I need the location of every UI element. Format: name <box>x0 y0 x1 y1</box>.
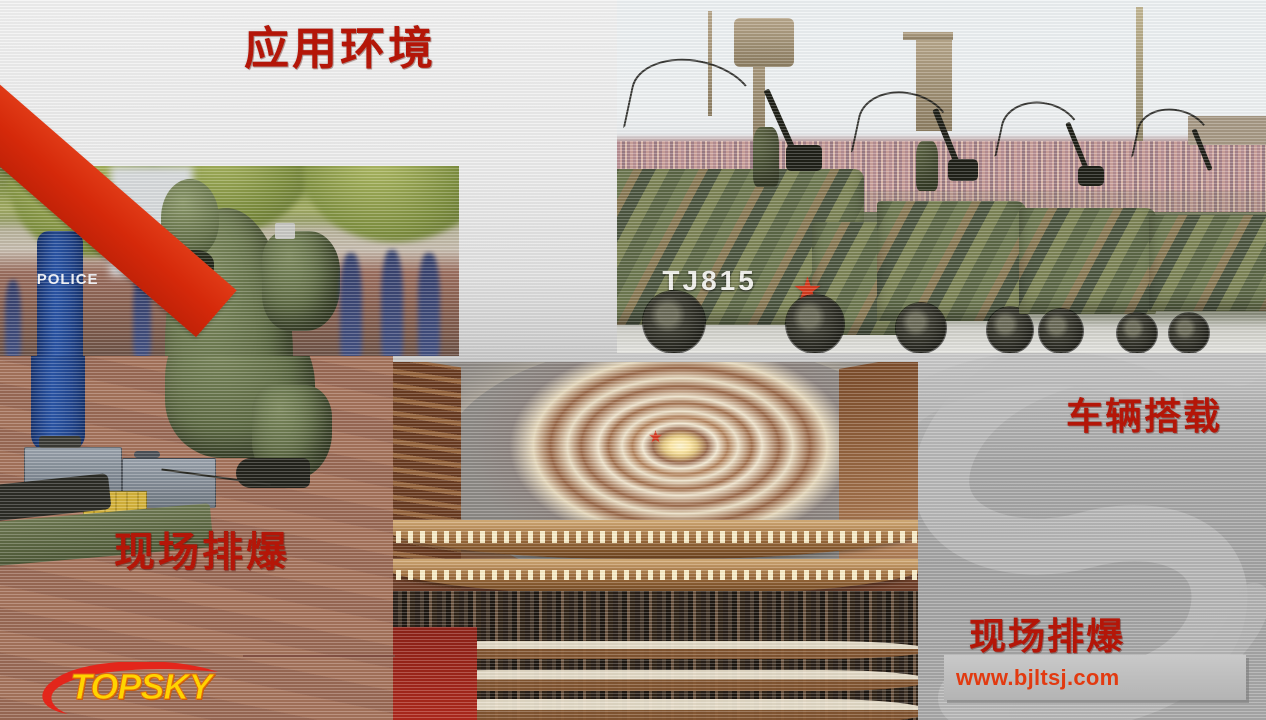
background-officer-2 <box>381 250 403 356</box>
background-officer-5 <box>5 280 21 356</box>
ribbon-label: 排爆 <box>0 31 5 139</box>
gun-mount-2 <box>948 159 978 181</box>
balcony-light-strip-lower <box>393 570 918 581</box>
background-officer-3 <box>418 253 440 356</box>
eod-boot <box>236 458 310 488</box>
vehicle-wheel-5 <box>1039 309 1083 353</box>
gun-mount-3 <box>1078 166 1104 186</box>
photo-military-parade: TJ815 ★ <box>617 0 1266 353</box>
vehicle-wheel-3 <box>896 303 946 353</box>
lamp-cluster <box>734 18 794 67</box>
gunner-soldier-2 <box>916 141 938 191</box>
website-url-text: www.bjltsj.com <box>956 665 1120 691</box>
armored-vehicle-4 <box>1149 215 1266 310</box>
armored-vehicle-3 <box>1019 208 1155 314</box>
police-ballistic-shield: POLICE <box>37 231 83 356</box>
vehicle-wheel-6 <box>1117 313 1157 353</box>
case-handle <box>134 451 160 458</box>
ceiling-red-star-icon: ★ <box>648 429 663 446</box>
hall-red-carpet <box>393 627 477 720</box>
vehicle-wheel-2 <box>786 295 844 353</box>
slide-canvas: TJ815 ★ POLICE <box>0 0 1266 720</box>
vehicle-wheel-7 <box>1169 313 1209 353</box>
vehicle-wheel-1 <box>643 291 705 353</box>
eod-suit-shoulder <box>262 231 340 331</box>
gun-mount-1 <box>786 145 822 171</box>
armored-vehicle-2 <box>877 201 1026 321</box>
website-url-plaque[interactable]: www.bjltsj.com <box>944 655 1246 700</box>
page-title: 应用环境 <box>244 12 436 77</box>
label-eod-scene-2: 现场排爆 <box>969 606 1125 660</box>
topsky-logo[interactable]: TOPSKY <box>22 662 242 714</box>
label-eod-scene: 现场排爆 <box>114 518 290 578</box>
shoulder-patch <box>275 223 295 239</box>
hall-left-wall <box>393 362 461 589</box>
police-shield-label: POLICE <box>37 271 83 288</box>
case-wires <box>39 436 81 448</box>
logo-wordmark: TOPSKY <box>70 666 211 708</box>
background-officer-1 <box>340 253 362 356</box>
label-vehicle-mounted: 车辆搭载 <box>1066 386 1222 440</box>
balcony-light-strip-upper <box>393 531 918 543</box>
gunner-soldier-1 <box>753 127 779 187</box>
hall-balcony-lower <box>393 559 918 595</box>
photo-great-hall-interior: ★ <box>393 362 918 720</box>
footer-divider-line <box>243 655 395 657</box>
tree-foliage-3 <box>303 166 459 242</box>
gate-tower-roof <box>903 32 953 40</box>
